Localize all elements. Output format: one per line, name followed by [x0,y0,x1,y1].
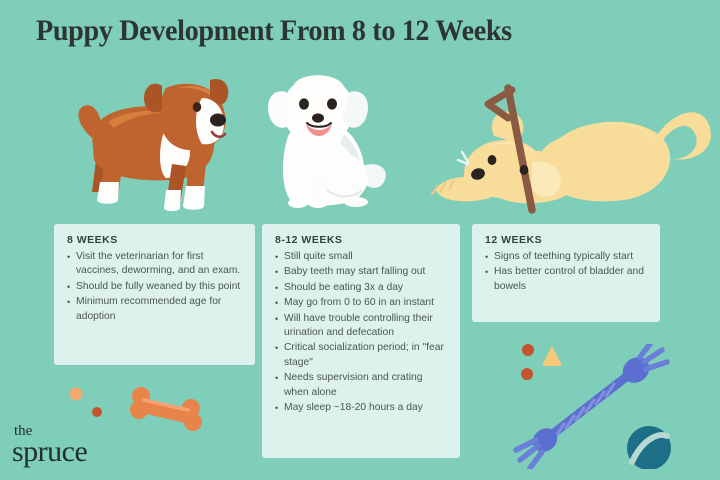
panel-12-weeks: 12 WEEKS Signs of teething typically sta… [472,224,660,322]
list-item: Needs supervision and crating when alone [275,371,448,400]
panel-8-weeks-list: Visit the veterinarian for first vaccine… [67,250,243,324]
list-item: Has better control of bladder and bowels [485,265,648,294]
white-fluffy-puppy-sitting-icon [244,62,394,214]
the-spruce-logo: the spruce [12,424,87,467]
logo-line-spruce: spruce [12,437,87,467]
list-item: Visit the veterinarian for first vaccine… [67,250,243,279]
kibble-treats-left-icon [64,386,124,426]
panel-8-12-weeks: 8-12 WEEKS Still quite small Baby teeth … [262,224,460,458]
panel-8-weeks: 8 WEEKS Visit the veterinarian for first… [54,224,255,365]
list-item: Signs of teething typically start [485,250,648,264]
list-item: Still quite small [275,250,448,264]
yellow-puppy-with-stick-icon [428,82,718,218]
rope-tug-toy-icon [512,344,677,469]
panel-12-weeks-heading: 12 WEEKS [485,234,648,246]
panel-8-weeks-heading: 8 WEEKS [67,234,243,246]
list-item: Minimum recommended age for adoption [67,295,243,324]
infographic-canvas: Puppy Development From 8 to 12 Weeks [0,0,720,480]
list-item: May sleep ~18-20 hours a day [275,401,448,415]
page-title: Puppy Development From 8 to 12 Weeks [36,14,656,48]
list-item: Will have trouble controlling their urin… [275,312,448,341]
dog-bone-toy-icon [128,386,204,432]
kibble-treats-right-icon [518,340,578,390]
list-item: May go from 0 to 60 in an instant [275,296,448,310]
list-item: Baby teeth may start falling out [275,265,448,279]
brown-white-puppy-standing-icon [62,52,232,217]
panel-8-12-weeks-list: Still quite small Baby teeth may start f… [275,250,448,415]
list-item: Should be eating 3x a day [275,281,448,295]
list-item: Should be fully weaned by this point [67,280,243,294]
panel-12-weeks-list: Signs of teething typically start Has be… [485,250,648,294]
panel-8-12-weeks-heading: 8-12 WEEKS [275,234,448,246]
list-item: Critical socialization period; in "fear … [275,341,448,370]
